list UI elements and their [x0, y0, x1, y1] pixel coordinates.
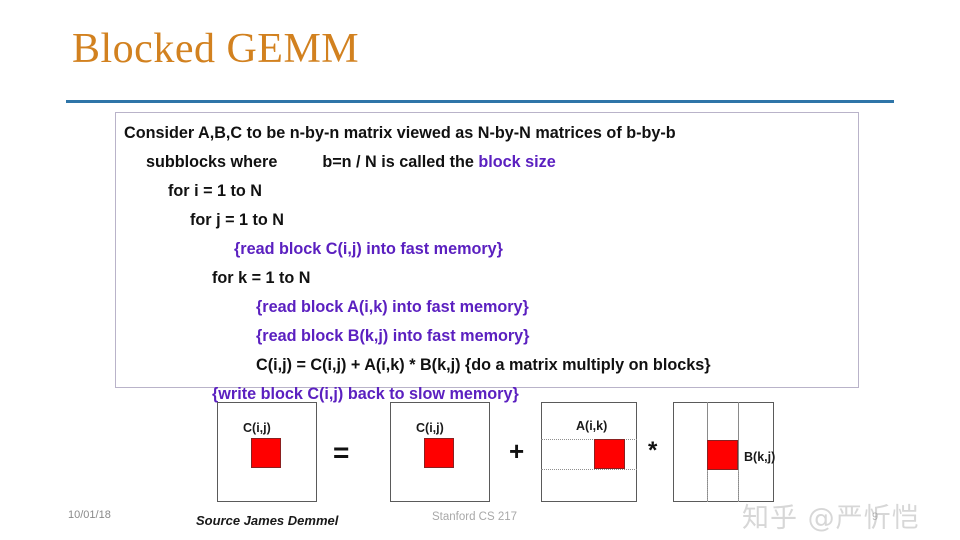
times-operator: * [648, 437, 657, 465]
matrix-c-operand-label: C(i,j) [416, 421, 444, 435]
pseudocode-text: for k = 1 to N [212, 269, 311, 287]
matrix-a-row-bottom-line [541, 469, 637, 470]
pseudocode-line: {read block C(i,j) into fast memory} [116, 235, 858, 264]
matrix-b-col-left-dotted [707, 470, 708, 502]
pseudocode-highlight: {read block C(i,j) into fast memory} [234, 240, 503, 258]
matrix-b-col-right-dotted [738, 470, 739, 502]
pseudocode-line: C(i,j) = C(i,j) + A(i,k) * B(k,j) {do a … [116, 351, 858, 380]
matrix-a-block [594, 439, 625, 469]
course-credit: Stanford CS 217 [432, 511, 517, 523]
pseudocode-text: C(i,j) = C(i,j) + A(i,k) * B(k,j) {do a … [256, 356, 711, 374]
pseudocode-highlight: {read block A(i,k) into fast memory} [256, 298, 529, 316]
matrix-a-label: A(i,k) [576, 419, 607, 433]
plus-operator: + [509, 436, 524, 467]
pseudocode-text: Consider A,B,C to be n-by-n matrix viewe… [124, 124, 676, 142]
pseudocode-line: for k = 1 to N [116, 264, 858, 293]
matrix-c-result-label: C(i,j) [243, 421, 271, 435]
pseudocode-lines: Consider A,B,C to be n-by-n matrix viewe… [116, 119, 858, 409]
watermark: 知乎 @严忻恺 [742, 496, 920, 535]
pseudocode-line: subblocks where b=n / N is called the bl… [116, 148, 858, 177]
matrix-c-operand-block [424, 438, 454, 468]
source-credit: Source James Demmel [196, 513, 338, 528]
pseudocode-line: {read block B(k,j) into fast memory} [116, 322, 858, 351]
matrix-c-result-block [251, 438, 281, 468]
pseudocode-line: {read block A(i,k) into fast memory} [116, 293, 858, 322]
pseudocode-line: for j = 1 to N [116, 206, 858, 235]
pseudocode-text: subblocks where b=n / N is called the [146, 153, 478, 171]
matrix-b-block [707, 440, 738, 470]
matrix-b-label: B(k,j) [744, 450, 775, 464]
page-title: Blocked GEMM [72, 25, 359, 73]
slide-canvas: Blocked GEMM Consider A,B,C to be n-by-n… [0, 0, 960, 540]
pseudocode-text: for j = 1 to N [190, 211, 284, 229]
pseudocode-highlight: {read block B(k,j) into fast memory} [256, 327, 529, 345]
pseudocode-highlight: block size [478, 153, 555, 171]
equals-operator: = [333, 437, 349, 469]
title-divider [66, 100, 894, 103]
pseudocode-text: for i = 1 to N [168, 182, 262, 200]
pseudocode-line: for i = 1 to N [116, 177, 858, 206]
pseudocode-panel: Consider A,B,C to be n-by-n matrix viewe… [115, 112, 859, 388]
pseudocode-line: Consider A,B,C to be n-by-n matrix viewe… [116, 119, 858, 148]
footer-date: 10/01/18 [68, 509, 111, 521]
